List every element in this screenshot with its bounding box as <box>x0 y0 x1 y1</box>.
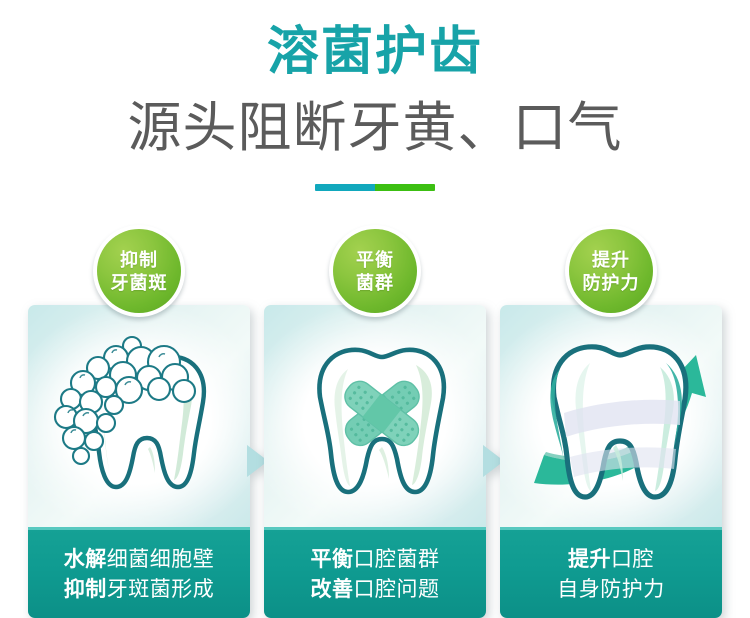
feature-card-2-caption: 平衡口腔菌群 改善口腔问题 <box>264 527 486 618</box>
caption-line-1-rest: 口腔 <box>611 548 654 571</box>
title-divider-bar <box>315 184 435 191</box>
badge-2-circle: 平衡 菌群 <box>333 229 417 313</box>
caption-line-1: 平衡口腔菌群 <box>311 546 440 573</box>
feature-card-1-caption: 水解细菌细胞壁 抑制牙斑菌形成 <box>28 527 250 618</box>
badge-2-line-1: 平衡 <box>356 249 394 271</box>
feature-card-1[interactable]: 水解细菌细胞壁 抑制牙斑菌形成 <box>28 305 250 618</box>
badge-1-line-2: 牙菌斑 <box>111 272 168 294</box>
badge-3-line-2: 防护力 <box>583 272 640 294</box>
caption-line-2-rest: 牙斑菌形成 <box>107 578 215 601</box>
badge-1-line-1: 抑制 <box>120 249 158 271</box>
feature-card-3[interactable]: 提升口腔 自身防护力 <box>500 305 722 618</box>
caption-line-2-bold: 抑制 <box>64 578 107 601</box>
caption-line-1-rest: 细菌细胞壁 <box>107 548 215 571</box>
header: 溶菌护齿 源头阻断牙黄、口气 <box>0 0 750 200</box>
feature-card-2-body: 平衡口腔菌群 改善口腔问题 <box>264 305 486 618</box>
caption-line-2-bold: 改善 <box>311 578 354 601</box>
caption-line-1-bold: 平衡 <box>311 548 354 571</box>
promo-banner: 溶菌护齿 源头阻断牙黄、口气 <box>0 0 750 618</box>
caption-line-1: 水解细菌细胞壁 <box>64 546 215 573</box>
feature-card-row: 水解细菌细胞壁 抑制牙斑菌形成 <box>0 225 750 605</box>
caption-line-2: 自身防护力 <box>557 576 665 603</box>
caption-line-1: 提升口腔 <box>568 546 654 573</box>
badge-3-line-1: 提升 <box>592 249 630 271</box>
feature-card-3-body: 提升口腔 自身防护力 <box>500 305 722 618</box>
badge-3-circle: 提升 防护力 <box>569 229 653 313</box>
caption-line-2: 抑制牙斑菌形成 <box>64 576 215 603</box>
badge-3[interactable]: 提升 防护力 <box>565 225 657 317</box>
tooth-with-up-arrow-icon <box>500 305 722 527</box>
badge-2-line-2: 菌群 <box>356 272 394 294</box>
feature-card-1-body: 水解细菌细胞壁 抑制牙斑菌形成 <box>28 305 250 618</box>
tooth-with-bandage-icon <box>264 305 486 527</box>
page-subtitle: 源头阻断牙黄、口气 <box>0 96 750 160</box>
badge-1-circle: 抑制 牙菌斑 <box>97 229 181 313</box>
feature-card-2[interactable]: 平衡口腔菌群 改善口腔问题 <box>264 305 486 618</box>
feature-card-3-caption: 提升口腔 自身防护力 <box>500 527 722 618</box>
caption-line-2-rest: 自身防护力 <box>557 578 665 601</box>
caption-line-2-rest: 口腔问题 <box>354 578 440 601</box>
badge-1[interactable]: 抑制 牙菌斑 <box>93 225 185 317</box>
caption-line-1-bold: 水解 <box>64 548 107 571</box>
caption-line-1-rest: 口腔菌群 <box>354 548 440 571</box>
tooth-with-bubbles-icon <box>28 305 250 527</box>
page-title: 溶菌护齿 <box>0 22 750 82</box>
caption-line-2: 改善口腔问题 <box>311 576 440 603</box>
badge-2[interactable]: 平衡 菌群 <box>329 225 421 317</box>
caption-line-1-bold: 提升 <box>568 548 611 571</box>
